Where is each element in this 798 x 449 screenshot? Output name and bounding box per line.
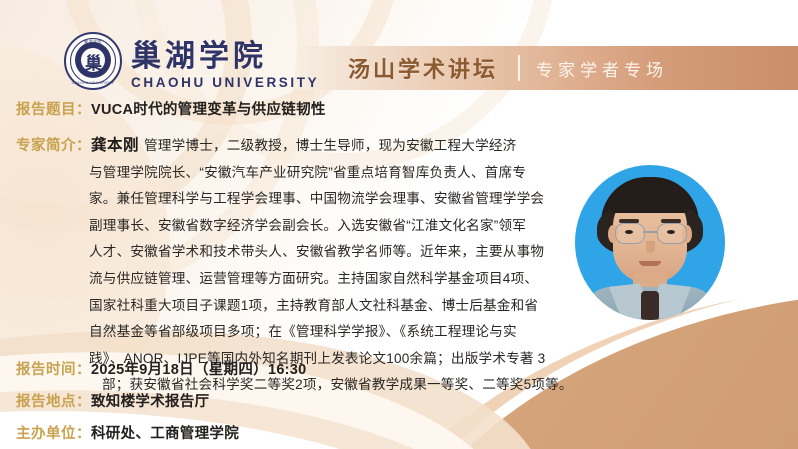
university-name-en: CHAOHU UNIVERSITY	[131, 75, 319, 90]
banner-bar: 汤山学术讲坛 专家学者专场	[300, 46, 798, 90]
place-row: 报告地点： 致知楼学术报告厅	[16, 390, 209, 411]
lecture-poster: 汤山学术讲坛 专家学者专场 巢 巢湖学院 CHAOHU UNIVERSITY 巢…	[0, 0, 798, 449]
topic-row: 报告题目： VUCA时代的管理变革与供应链韧性	[16, 98, 326, 119]
time-row: 报告时间： 2025年9月18日（星期四）16:30	[16, 358, 307, 379]
speaker-bio-line: 管理学博士，二级教授，博士生导师，现为安徽工程大学经济	[144, 133, 516, 160]
time-label: 报告时间：	[16, 358, 91, 379]
place-value: 致知楼学术报告厅	[91, 390, 209, 411]
speaker-label: 专家简介：	[16, 134, 91, 155]
speaker-name: 龚本刚	[91, 133, 139, 155]
banner-title: 汤山学术讲坛	[348, 52, 498, 84]
seal-glyph: 巢	[85, 49, 102, 74]
host-label: 主办单位：	[16, 422, 91, 443]
speaker-bio-line: 与管理学院院长、“安徽汽车产业研究院”省重点培育智库负责人、首席专	[16, 160, 536, 187]
content-layer: 汤山学术讲坛 专家学者专场 巢 巢湖学院 CHAOHU UNIVERSITY 巢…	[0, 0, 798, 449]
speaker-portrait-photo	[575, 165, 725, 320]
topic-label: 报告题目：	[16, 98, 91, 119]
seal-arc-top-text: 巢湖学院	[66, 39, 120, 45]
speaker-bio-line: 流与供应链管理、运营管理等方面研究。主持国家自然科学基金项目4项、	[16, 266, 536, 293]
university-name-cn: 巢湖学院	[131, 40, 319, 73]
time-value: 2025年9月18日（星期四）16:30	[91, 358, 307, 379]
host-row: 主办单位： 科研处、工商管理学院	[16, 422, 239, 443]
speaker-bio-first-line: 专家简介： 龚本刚 管理学博士，二级教授，博士生导师，现为安徽工程大学经济	[16, 133, 536, 160]
place-label: 报告地点：	[16, 390, 91, 411]
speaker-bio-line: 人才、安徽省学术和技术带头人、安徽省教学名师等。近年来，主要从事物	[16, 239, 536, 266]
university-logo: 巢 巢湖学院 CHAOHU UNIVERSITY 巢湖学院 CHAOHU UNI…	[64, 32, 319, 90]
banner-subtitle: 专家学者专场	[536, 56, 668, 81]
university-seal-icon: 巢 巢湖学院 CHAOHU UNIVERSITY	[64, 32, 122, 90]
speaker-bio-line: 国家社科重大项目子课题1项，主持教育部人文社科基金、博士后基金和省	[16, 293, 536, 320]
topic-value: VUCA时代的管理变革与供应链韧性	[91, 98, 326, 119]
seal-arc-bottom-text: CHAOHU UNIVERSITY	[66, 81, 120, 85]
host-value: 科研处、工商管理学院	[91, 422, 239, 443]
speaker-bio-line: 自然基金等省部级项目多项；在《管理科学学报》、《系统工程理论与实	[16, 319, 536, 346]
speaker-bio-line: 家。兼任管理科学与工程学会理事、中国物流学会理事、安徽省管理学学会	[16, 186, 536, 213]
speaker-bio-line: 副理事长、安徽省数字经济学会副会长。入选安徽省“江淮文化名家”领军	[16, 213, 536, 240]
banner-divider	[518, 55, 520, 81]
